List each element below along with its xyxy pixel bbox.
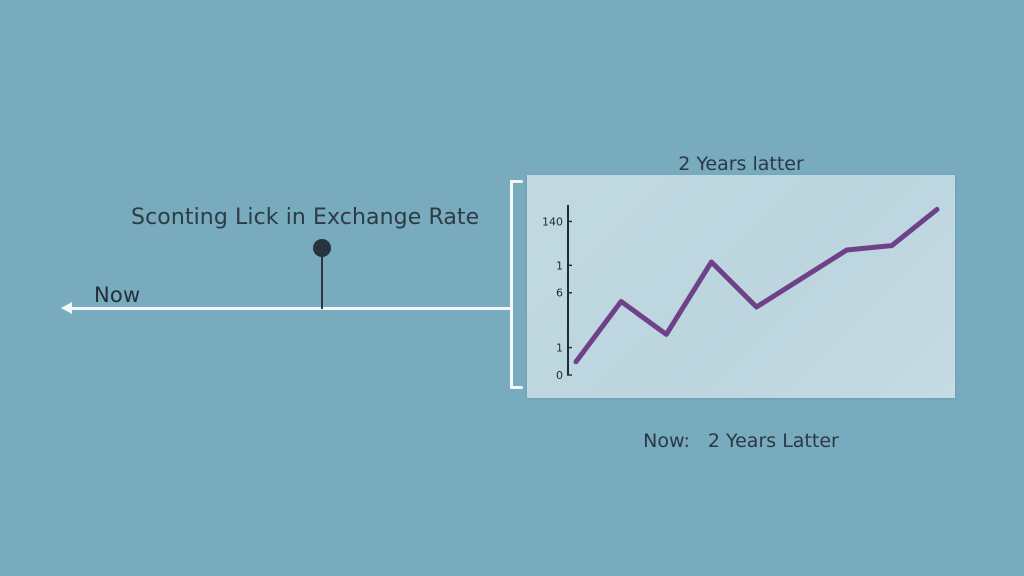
chart-panel-title: 2 Years latter [527, 153, 955, 175]
event-marker-dot [313, 239, 331, 257]
y-axis-tick-label: 0 [556, 369, 563, 382]
data-series-line [576, 209, 937, 361]
bracket-bottom-arm [510, 386, 523, 389]
event-marker-stem [321, 250, 323, 309]
bracket-spine [510, 180, 513, 389]
bracket-connector-stub [497, 307, 511, 310]
now-label: Now [94, 283, 140, 307]
y-axis-tick-label: 6 [556, 287, 563, 300]
chart-panel-caption: Now:2 Years Latter [527, 430, 955, 452]
line-chart: 1401610 [527, 175, 955, 398]
connector-bracket [497, 180, 523, 389]
slide-canvas: Now Sconting Lick in Exchange Rate 2 Yea… [0, 0, 1024, 576]
caption-now-label: Now: [643, 430, 690, 452]
y-axis-tick-label: 1 [556, 259, 563, 272]
y-axis-tick-label: 140 [542, 215, 563, 228]
event-title: Sconting Lick in Exchange Rate [131, 205, 479, 230]
bracket-top-arm [510, 180, 523, 183]
caption-future-label: 2 Years Latter [708, 430, 839, 452]
chart-panel: 1401610 [527, 175, 955, 398]
y-axis-tick-label: 1 [556, 342, 563, 355]
timeline-axis-line [66, 307, 512, 310]
